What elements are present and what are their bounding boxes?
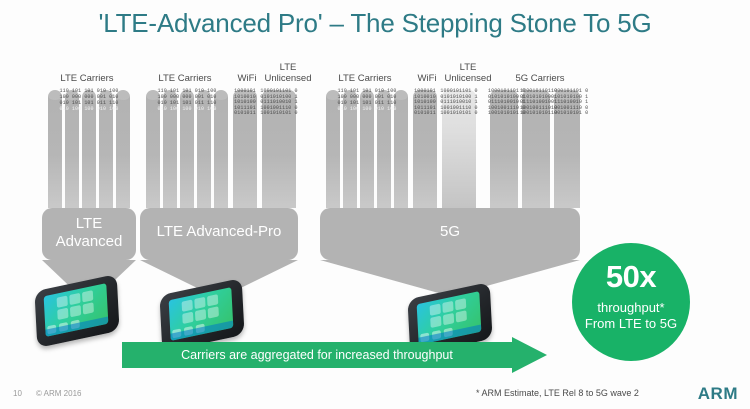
funnel2-prongs: 110 101 101 010 100 100 000 000 001 010 …	[138, 90, 310, 208]
prong-lte-4	[99, 90, 113, 208]
label-lte-carriers: LTE Carriers	[140, 74, 230, 85]
label-lte-unlicensed: LTE Unlicensed	[262, 63, 314, 84]
prong-lte-5	[394, 90, 408, 208]
prong-lte-unlicensed	[262, 90, 296, 208]
badge-headline: 50x	[572, 261, 690, 293]
prong-lte-1	[326, 90, 340, 208]
funnel-5g: LTE Carriers WiFi LTE Unlicensed 5G Carr…	[318, 62, 580, 294]
footnote-text: * ARM Estimate, LTE Rel 8 to 5G wave 2	[476, 388, 639, 398]
label-lte-unlicensed: LTE Unlicensed	[442, 63, 494, 84]
prong-lte-unlicensed	[442, 90, 476, 208]
funnel1-column-labels: LTE Carriers	[34, 62, 142, 88]
prong-lte-5	[116, 90, 130, 208]
funnel1-body-label-1: LTE	[42, 216, 136, 232]
funnel3-body: 5G	[320, 208, 580, 260]
prong-lte-2	[65, 90, 79, 208]
aggregation-arrow: Carriers are aggregated for increased th…	[122, 342, 547, 368]
phone-5g	[408, 291, 492, 347]
slide-canvas: 'LTE-Advanced Pro' – The Stepping Stone …	[0, 0, 750, 409]
page-number: 10	[13, 389, 22, 398]
prong-5g-3	[554, 90, 580, 208]
prong-lte-4	[197, 90, 211, 208]
prong-lte-4	[377, 90, 391, 208]
phone-lte-advanced	[35, 283, 119, 339]
badge-line2: From LTE to 5G	[572, 316, 690, 331]
label-lte-carriers: LTE Carriers	[42, 74, 132, 85]
label-5g-carriers: 5G Carriers	[500, 74, 580, 85]
prong-lte-3	[360, 90, 374, 208]
arrow-label: Carriers are aggregated for increased th…	[122, 342, 512, 368]
funnel1-body-label-2: Advanced	[42, 234, 136, 250]
funnel2-body: LTE Advanced-Pro	[140, 208, 298, 260]
prong-lte-1	[146, 90, 160, 208]
funnel2-body-label-1: LTE Advanced-Pro	[140, 224, 298, 240]
throughput-badge: 50x throughput* From LTE to 5G	[572, 243, 690, 361]
funnel-lte-advanced: LTE Carriers 110 101 101 010 100 100 000…	[34, 62, 142, 294]
prong-lte-3	[82, 90, 96, 208]
phone-lte-advanced-pro	[160, 287, 244, 343]
arm-logo: ARM	[698, 384, 738, 404]
phone-app-grid	[182, 294, 219, 324]
prong-5g-1	[490, 90, 518, 208]
prong-lte-2	[163, 90, 177, 208]
label-lte-carriers: LTE Carriers	[320, 74, 410, 85]
prong-lte-5	[214, 90, 228, 208]
phone-app-grid	[430, 298, 467, 328]
prong-lte-2	[343, 90, 357, 208]
funnel1-body: LTE Advanced	[42, 208, 136, 260]
funnel1-prongs: 110 101 101 010 100 100 000 000 001 010 …	[34, 90, 142, 208]
arrow-head-icon	[512, 337, 547, 373]
page-title: 'LTE-Advanced Pro' – The Stepping Stone …	[0, 8, 750, 39]
prong-wifi	[233, 90, 257, 208]
prong-lte-1	[48, 90, 62, 208]
phone-app-grid	[57, 290, 94, 320]
label-wifi: WiFi	[230, 74, 264, 85]
copyright-text: © ARM 2016	[36, 389, 81, 398]
funnel3-taper: 110 001	[318, 260, 580, 294]
prong-wifi	[413, 90, 437, 208]
prong-lte-3	[180, 90, 194, 208]
funnel2-column-labels: LTE Carriers WiFi LTE Unlicensed	[138, 62, 310, 88]
label-wifi: WiFi	[410, 74, 444, 85]
prong-5g-2	[522, 90, 550, 208]
funnel3-body-label-1: 5G	[320, 224, 580, 240]
funnel-lte-advanced-pro: LTE Carriers WiFi LTE Unlicensed 110 101…	[138, 62, 310, 294]
funnel3-column-labels: LTE Carriers WiFi LTE Unlicensed 5G Carr…	[318, 62, 580, 88]
funnel3-prongs: 110 101 101 010 100 100 000 000 001 010 …	[318, 90, 580, 208]
badge-line1: throughput*	[572, 300, 690, 315]
